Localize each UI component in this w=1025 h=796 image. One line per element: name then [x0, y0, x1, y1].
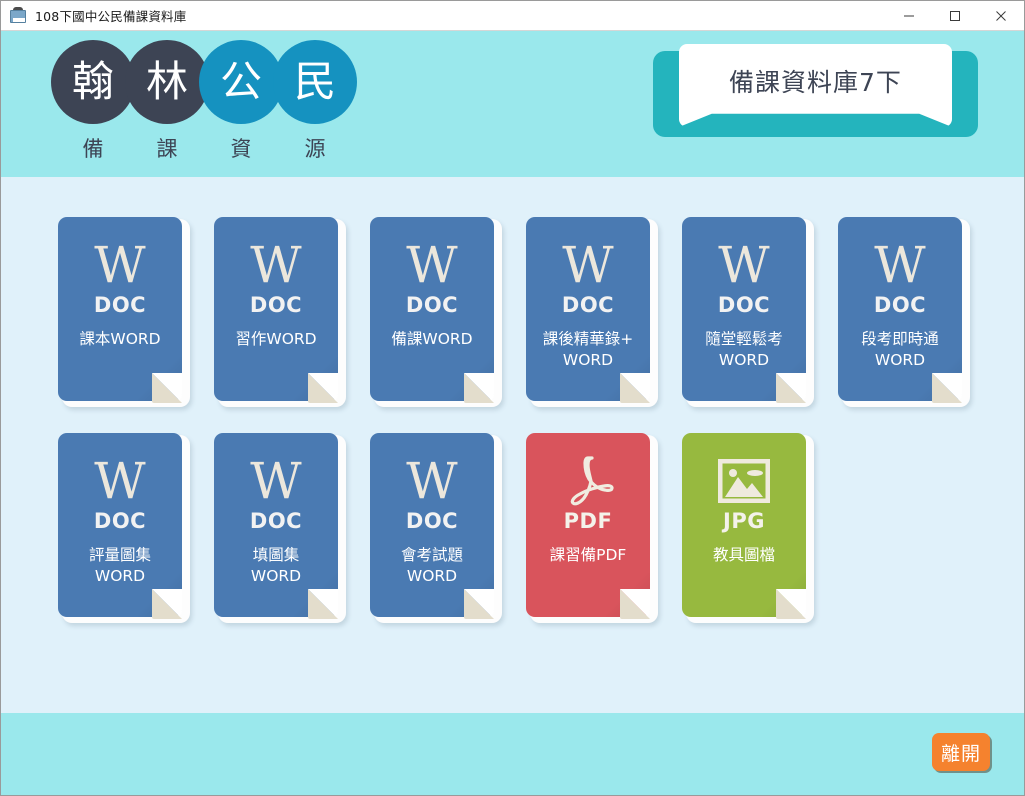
folded-corner-icon — [152, 589, 182, 619]
word-icon: W — [874, 243, 925, 287]
resource-card[interactable]: WDOC會考試題WORD — [370, 433, 500, 623]
app-icon — [9, 7, 27, 25]
window-title: 108下國中公民備課資料庫 — [35, 6, 186, 25]
card-kind-label: DOC — [250, 509, 302, 533]
resource-card[interactable]: WDOC段考即時通WORD — [838, 217, 968, 407]
word-icon: W — [406, 243, 457, 287]
resource-card[interactable]: WDOC隨堂輕鬆考WORD — [682, 217, 812, 407]
word-icon: W — [94, 243, 145, 287]
resource-card[interactable]: WDOC備課WORD — [370, 217, 500, 407]
logo-subtitle-4: 源 — [273, 132, 357, 166]
card-icon: W — [250, 239, 301, 291]
card-kind-label: DOC — [562, 293, 614, 317]
logo-circles: 翰 林 公 民 — [51, 40, 391, 136]
image-icon — [718, 459, 770, 503]
card-kind-label: DOC — [250, 293, 302, 317]
resource-card[interactable]: JPG教具圖檔 — [682, 433, 812, 623]
folded-corner-icon — [776, 589, 806, 619]
window-controls — [886, 1, 1024, 31]
card-kind-label: DOC — [406, 293, 458, 317]
card-icon: W — [94, 455, 145, 507]
card-kind-label: DOC — [718, 293, 770, 317]
card-title: 會考試題WORD — [373, 545, 491, 587]
card-row-1: WDOC課本WORDWDOC習作WORDWDOC備課WORDWDOC課後精華錄+… — [1, 217, 1024, 407]
folded-corner-icon — [152, 373, 182, 403]
folded-corner-icon — [620, 373, 650, 403]
card-title: 填圖集WORD — [217, 545, 335, 587]
brand-logo: 翰 林 公 民 備 課 資 源 — [51, 40, 391, 170]
card-icon — [562, 455, 614, 507]
word-icon: W — [562, 243, 613, 287]
logo-circle-1: 翰 — [51, 40, 135, 124]
resource-card[interactable]: WDOC課本WORD — [58, 217, 188, 407]
logo-circle-2: 林 — [125, 40, 209, 124]
word-icon: W — [250, 243, 301, 287]
header-banner: 備課資料庫7下 — [653, 51, 978, 137]
folded-corner-icon — [932, 373, 962, 403]
word-icon: W — [250, 459, 301, 503]
resource-card[interactable]: WDOC習作WORD — [214, 217, 344, 407]
folded-corner-icon — [308, 589, 338, 619]
card-title: 課本WORD — [61, 329, 179, 350]
app-header: 翰 林 公 民 備 課 資 源 備課資料庫7下 — [1, 31, 1024, 177]
word-icon: W — [94, 459, 145, 503]
pdf-icon — [562, 455, 614, 507]
card-kind-label: DOC — [874, 293, 926, 317]
card-title: 習作WORD — [217, 329, 335, 350]
word-icon: W — [718, 243, 769, 287]
folded-corner-icon — [464, 373, 494, 403]
card-icon: W — [406, 455, 457, 507]
minimize-icon[interactable] — [886, 1, 932, 31]
logo-subtitle-3: 資 — [199, 132, 283, 166]
resource-card[interactable]: WDOC課後精華錄+WORD — [526, 217, 656, 407]
logo-subtitle-2: 課 — [125, 132, 209, 166]
exit-button[interactable]: 離開 — [932, 733, 990, 771]
word-icon: W — [406, 459, 457, 503]
card-title: 備課WORD — [373, 329, 491, 350]
card-title: 教具圖檔 — [685, 545, 803, 566]
logo-subtitles: 備 課 資 源 — [51, 132, 357, 166]
close-icon[interactable] — [978, 1, 1024, 31]
card-kind-label: DOC — [94, 509, 146, 533]
resource-card[interactable]: WDOC填圖集WORD — [214, 433, 344, 623]
title-bar: 108下國中公民備課資料庫 — [1, 1, 1024, 31]
logo-circle-3: 公 — [199, 40, 283, 124]
content-area: WDOC課本WORDWDOC習作WORDWDOC備課WORDWDOC課後精華錄+… — [1, 177, 1024, 713]
resource-card[interactable]: WDOC評量圖集WORD — [58, 433, 188, 623]
card-kind-label: DOC — [406, 509, 458, 533]
folded-corner-icon — [620, 589, 650, 619]
card-icon — [718, 455, 770, 507]
banner-title: 備課資料庫7下 — [729, 63, 902, 99]
card-icon: W — [94, 239, 145, 291]
card-icon: W — [718, 239, 769, 291]
card-title: 段考即時通WORD — [841, 329, 959, 371]
card-row-2: WDOC評量圖集WORDWDOC填圖集WORDWDOC會考試題WORDPDF課習… — [1, 433, 1024, 623]
card-title: 評量圖集WORD — [61, 545, 179, 587]
folded-corner-icon — [308, 373, 338, 403]
card-icon: W — [874, 239, 925, 291]
app-footer: 離開 — [1, 713, 1024, 795]
app-window: 108下國中公民備課資料庫 翰 林 公 民 備 課 — [0, 0, 1025, 796]
folded-corner-icon — [776, 373, 806, 403]
card-kind-label: DOC — [94, 293, 146, 317]
maximize-icon[interactable] — [932, 1, 978, 31]
card-title: 課後精華錄+WORD — [529, 329, 647, 371]
card-icon: W — [250, 455, 301, 507]
card-icon: W — [562, 239, 613, 291]
logo-circle-4: 民 — [273, 40, 357, 124]
resource-card[interactable]: PDF課習備PDF — [526, 433, 656, 623]
logo-subtitle-1: 備 — [51, 132, 135, 166]
card-title: 課習備PDF — [529, 545, 647, 566]
folded-corner-icon — [464, 589, 494, 619]
card-icon: W — [406, 239, 457, 291]
card-kind-label: JPG — [723, 509, 765, 533]
card-title: 隨堂輕鬆考WORD — [685, 329, 803, 371]
card-kind-label: PDF — [564, 509, 613, 533]
